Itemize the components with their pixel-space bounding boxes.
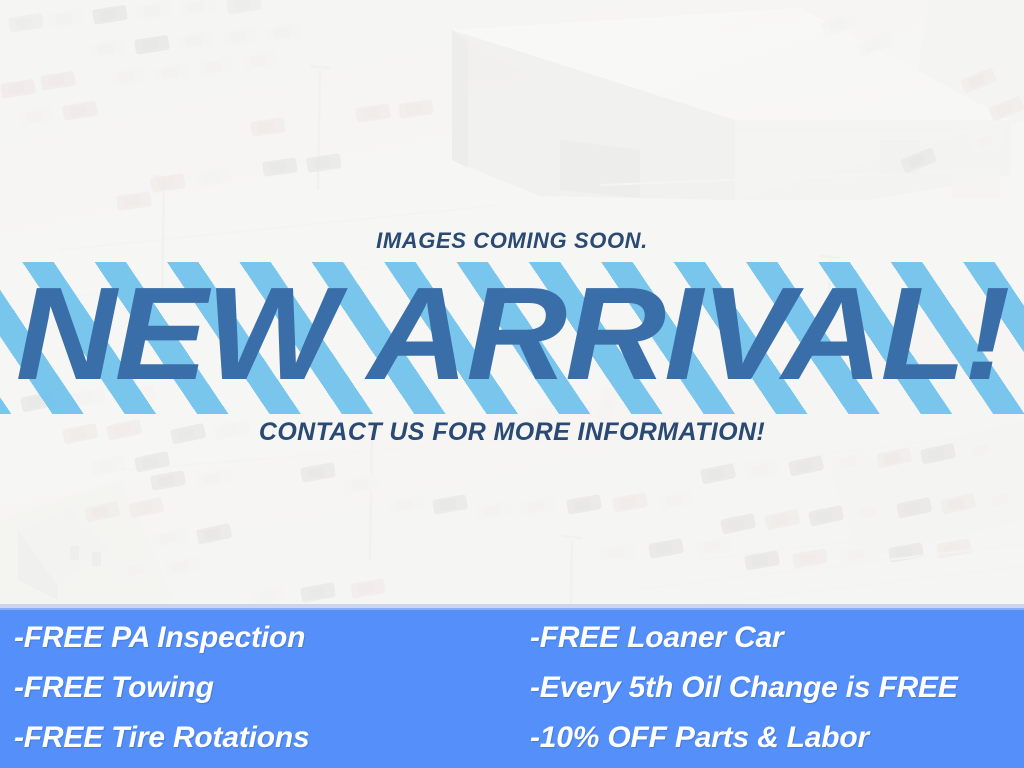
perk-item: -10% OFF Parts & Labor (530, 715, 1024, 761)
perk-item: -FREE PA Inspection (14, 615, 515, 661)
new-arrival-placeholder-card: IMAGES COMING SOON. NEW ARRIVAL! CONTACT… (0, 0, 1024, 768)
perk-item: -FREE Tire Rotations (14, 715, 515, 761)
perk-item: -FREE Towing (14, 665, 515, 711)
diagonal-stripe-band (0, 262, 1024, 414)
perks-column-left: -FREE PA Inspection -FREE Towing -FREE T… (0, 615, 515, 761)
perks-column-right: -FREE Loaner Car -Every 5th Oil Change i… (515, 615, 1024, 761)
perk-item: -FREE Loaner Car (530, 615, 1024, 661)
perk-item: -Every 5th Oil Change is FREE (530, 665, 1024, 711)
perks-banner: -FREE PA Inspection -FREE Towing -FREE T… (0, 608, 1024, 768)
